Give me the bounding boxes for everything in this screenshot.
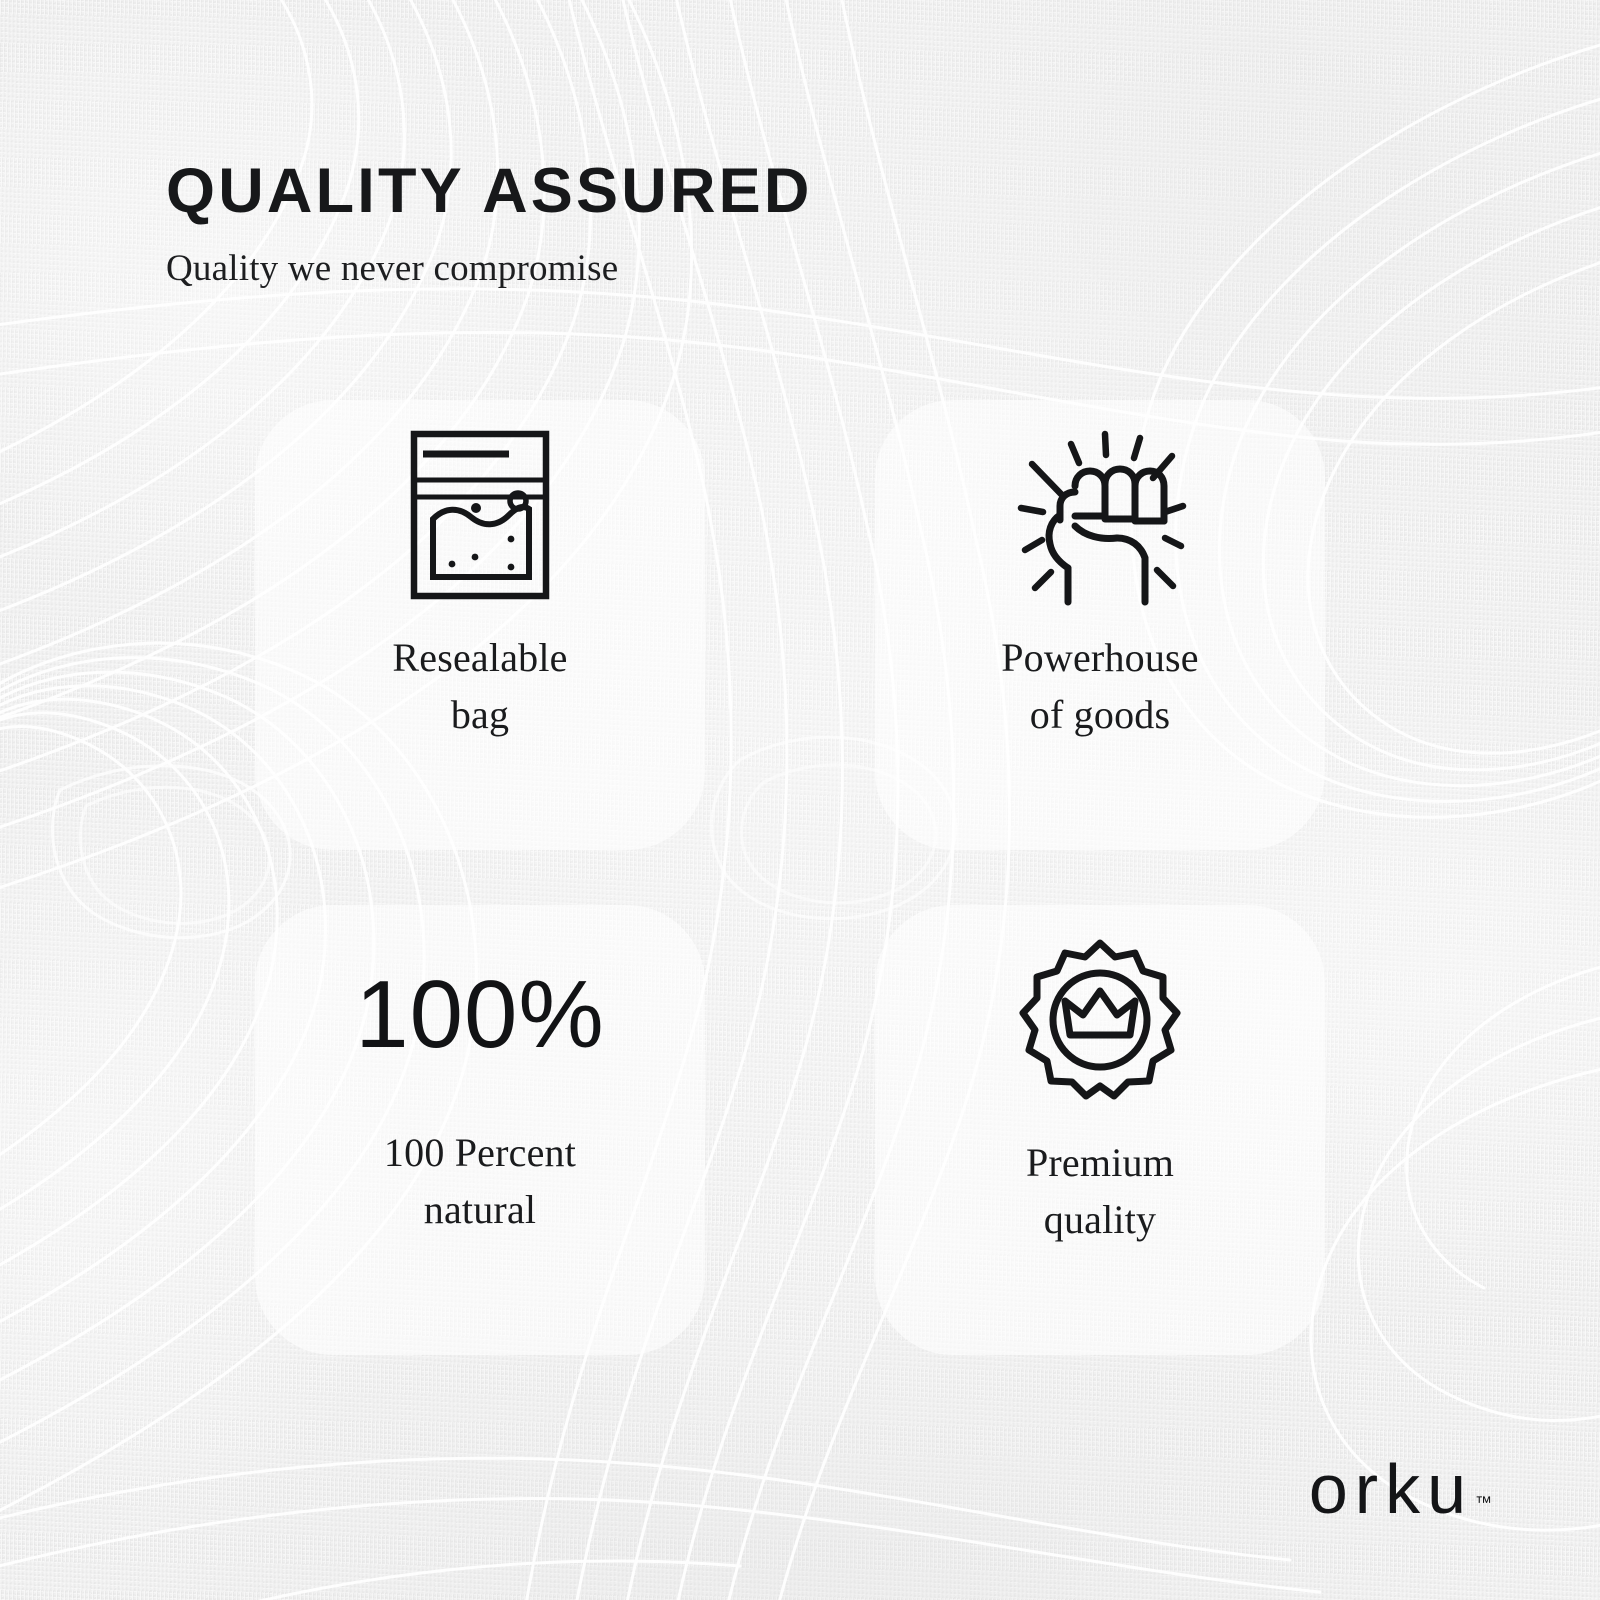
- feature-label-line2: bag: [451, 692, 509, 737]
- brand-logo: orku ™: [1309, 1456, 1492, 1523]
- percent-100-text: 100%: [255, 905, 705, 1125]
- raised-fist-power-icon: [875, 400, 1325, 630]
- feature-card-premium-quality[interactable]: Premium quality: [875, 905, 1325, 1355]
- feature-label-line1: Powerhouse: [1001, 635, 1199, 680]
- feature-label-line2: of goods: [1030, 692, 1171, 737]
- feature-label-line2: quality: [1044, 1197, 1157, 1242]
- stat-value: 100%: [355, 967, 605, 1063]
- feature-label: Powerhouse of goods: [1001, 630, 1199, 744]
- feature-label-line1: Premium: [1026, 1140, 1174, 1185]
- brand-name: orku: [1309, 1456, 1473, 1523]
- resealable-bag-icon: [255, 400, 705, 630]
- header-block: QUALITY ASSURED Quality we never comprom…: [166, 160, 1266, 290]
- badge-crown-premium-icon: [875, 905, 1325, 1135]
- feature-card-grid: Resealable bag: [255, 400, 1315, 1355]
- feature-card-100-percent-natural[interactable]: 100% 100 Percent natural: [255, 905, 705, 1355]
- feature-label-line1: Resealable: [392, 635, 567, 680]
- feature-label-line1: 100 Percent: [384, 1130, 576, 1175]
- quality-assured-poster: QUALITY ASSURED Quality we never comprom…: [0, 0, 1600, 1600]
- feature-label: 100 Percent natural: [384, 1125, 576, 1239]
- page-title: QUALITY ASSURED: [166, 160, 1266, 223]
- feature-label: Resealable bag: [392, 630, 567, 744]
- feature-card-powerhouse[interactable]: Powerhouse of goods: [875, 400, 1325, 850]
- feature-card-resealable-bag[interactable]: Resealable bag: [255, 400, 705, 850]
- trademark-symbol: ™: [1475, 1493, 1492, 1513]
- poster-content: QUALITY ASSURED Quality we never comprom…: [0, 0, 1600, 1600]
- feature-label: Premium quality: [1026, 1135, 1174, 1249]
- page-subtitle: Quality we never compromise: [166, 223, 1266, 290]
- feature-label-line2: natural: [424, 1187, 536, 1232]
